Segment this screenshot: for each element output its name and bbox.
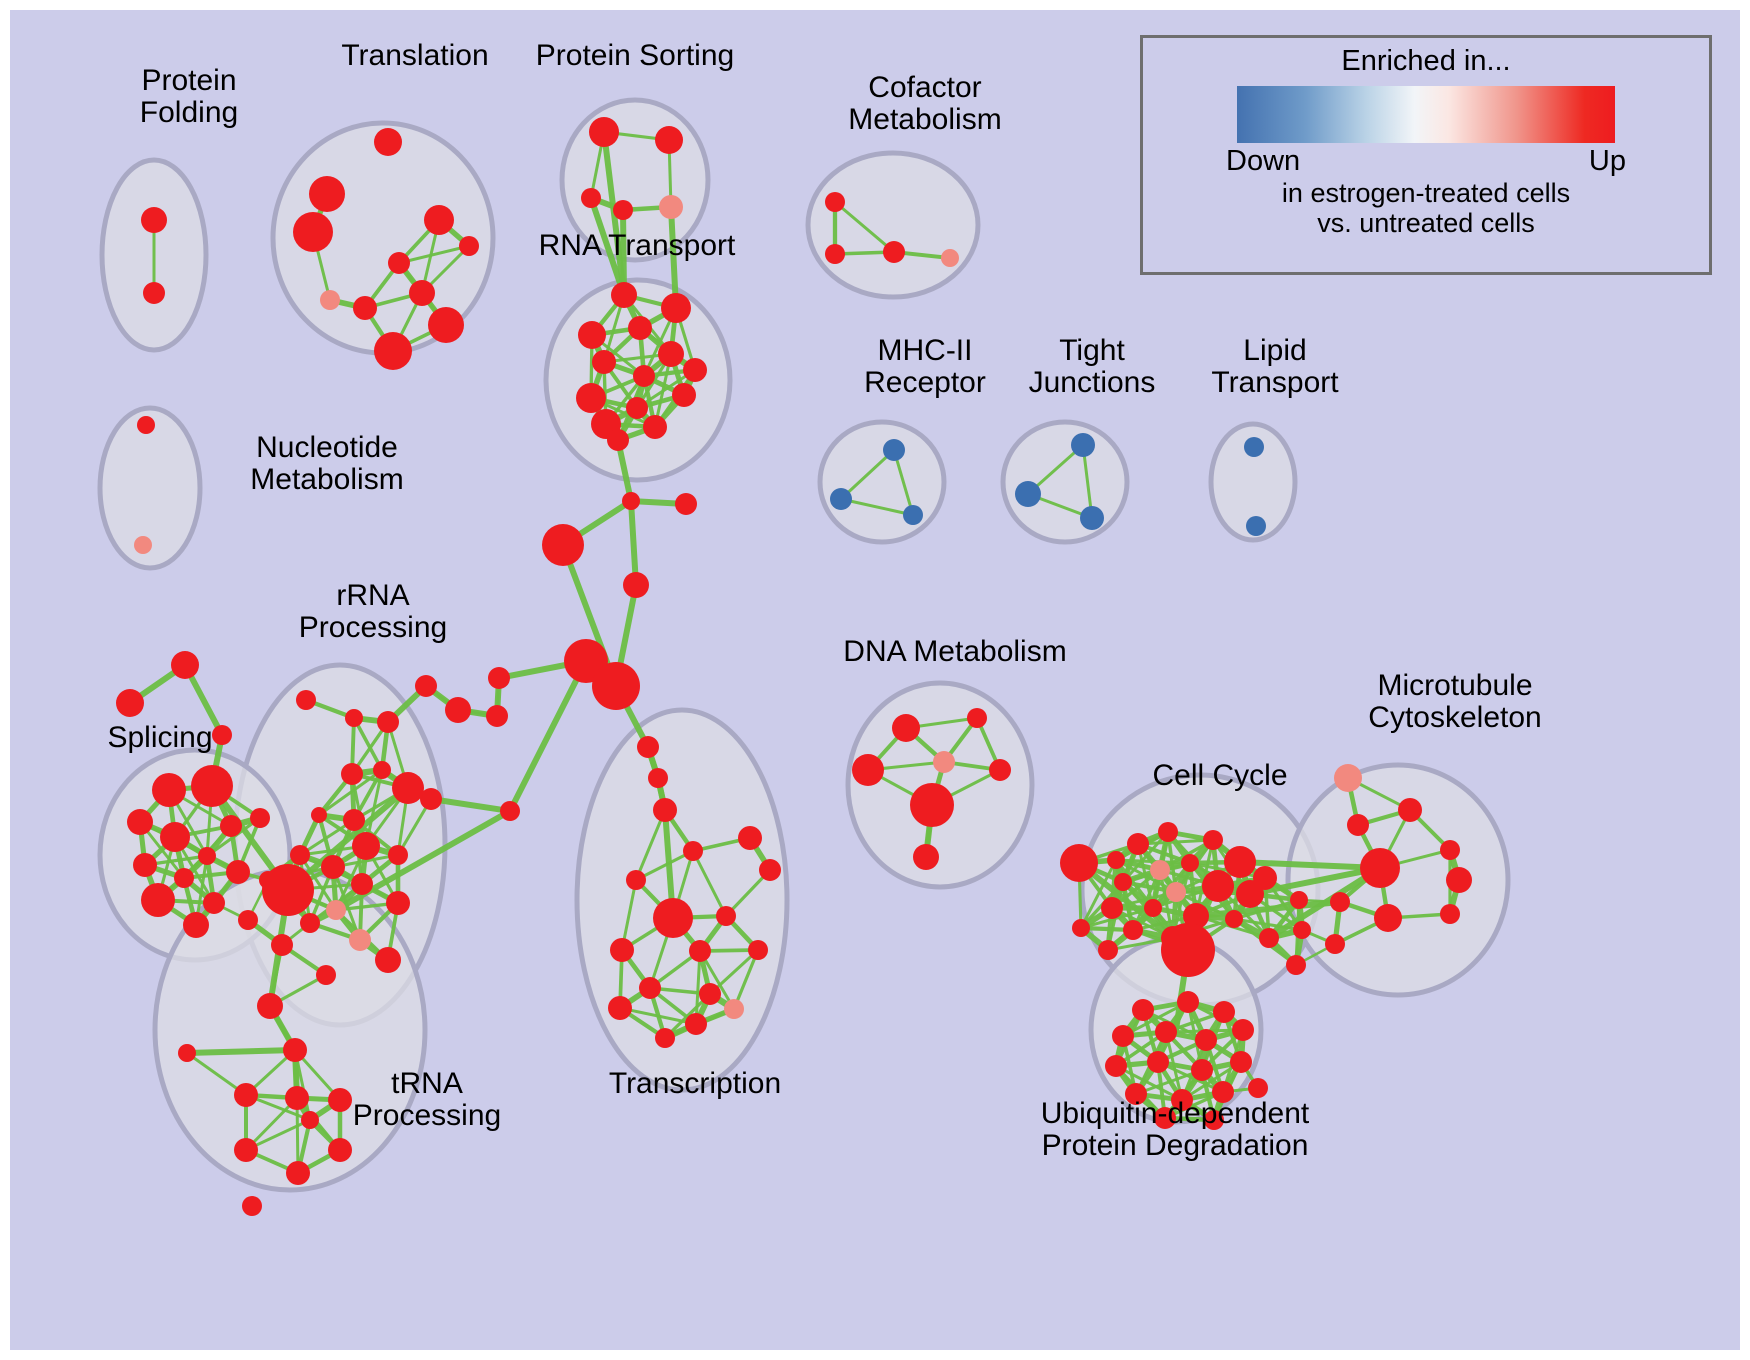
network-node[interactable]	[311, 807, 327, 823]
network-node[interactable]	[1155, 1021, 1177, 1043]
network-node[interactable]	[913, 844, 939, 870]
network-node[interactable]	[1232, 1019, 1254, 1041]
network-node[interactable]	[1248, 1078, 1268, 1098]
network-node[interactable]	[1144, 899, 1162, 917]
network-node[interactable]	[830, 488, 852, 510]
network-node[interactable]	[655, 126, 683, 154]
network-node[interactable]	[1181, 854, 1199, 872]
network-node[interactable]	[388, 252, 410, 274]
network-node[interactable]	[613, 200, 633, 220]
network-node[interactable]	[309, 176, 345, 212]
network-node[interactable]	[883, 241, 905, 263]
network-node[interactable]	[672, 383, 696, 407]
network-node[interactable]	[578, 321, 606, 349]
network-node[interactable]	[1191, 1059, 1213, 1081]
network-node[interactable]	[293, 212, 333, 252]
network-node[interactable]	[271, 934, 293, 956]
network-node[interactable]	[212, 725, 232, 745]
network-node[interactable]	[628, 316, 652, 340]
network-node[interactable]	[655, 1028, 675, 1048]
network-node[interactable]	[748, 940, 768, 960]
network-node[interactable]	[639, 977, 661, 999]
network-node[interactable]	[183, 912, 209, 938]
network-node[interactable]	[1098, 940, 1118, 960]
network-node[interactable]	[392, 772, 424, 804]
network-node[interactable]	[1286, 955, 1306, 975]
network-node[interactable]	[1290, 891, 1308, 909]
network-node[interactable]	[352, 832, 380, 860]
network-node[interactable]	[1212, 1081, 1234, 1103]
network-node[interactable]	[685, 1013, 707, 1035]
network-node[interactable]	[643, 415, 667, 439]
network-node[interactable]	[989, 759, 1011, 781]
network-node[interactable]	[933, 751, 955, 773]
network-node[interactable]	[1132, 999, 1154, 1021]
network-node[interactable]	[1225, 910, 1243, 928]
network-node[interactable]	[1440, 840, 1460, 860]
network-node[interactable]	[238, 910, 258, 930]
network-node[interactable]	[374, 332, 412, 370]
network-node[interactable]	[1072, 919, 1090, 937]
network-node[interactable]	[1259, 928, 1279, 948]
network-node[interactable]	[1127, 833, 1149, 855]
network-node[interactable]	[300, 913, 320, 933]
network-node[interactable]	[351, 873, 373, 895]
network-node[interactable]	[1202, 870, 1234, 902]
network-node[interactable]	[1161, 923, 1215, 977]
legend-colorbar	[1237, 86, 1615, 143]
network-node[interactable]	[234, 1138, 258, 1162]
legend-up-label: Up	[1589, 145, 1626, 178]
network-node[interactable]	[1101, 897, 1123, 919]
network-node[interactable]	[542, 524, 584, 566]
network-node[interactable]	[683, 358, 707, 382]
network-node[interactable]	[420, 788, 442, 810]
legend-box: Enriched in... Down Up in estrogen-treat…	[1140, 35, 1712, 275]
network-node[interactable]	[353, 296, 377, 320]
network-node[interactable]	[1347, 814, 1369, 836]
network-node[interactable]	[825, 244, 845, 264]
network-node[interactable]	[349, 929, 371, 951]
network-node[interactable]	[1325, 934, 1345, 954]
network-node[interactable]	[626, 397, 648, 419]
network-node[interactable]	[160, 822, 190, 852]
network-node[interactable]	[910, 783, 954, 827]
network-node[interactable]	[1195, 1029, 1217, 1051]
network-node[interactable]	[592, 662, 640, 710]
network-node[interactable]	[226, 860, 250, 884]
network-node[interactable]	[608, 996, 632, 1020]
network-node[interactable]	[1398, 798, 1422, 822]
network-node[interactable]	[375, 947, 401, 973]
network-node[interactable]	[301, 1111, 319, 1129]
network-node[interactable]	[1112, 1025, 1134, 1047]
network-node[interactable]	[283, 1038, 307, 1062]
network-node[interactable]	[171, 651, 199, 679]
network-node[interactable]	[373, 761, 391, 779]
network-node[interactable]	[1107, 851, 1125, 869]
network-node[interactable]	[699, 983, 721, 1005]
network-node[interactable]	[622, 492, 640, 510]
network-node[interactable]	[1147, 1051, 1169, 1073]
network-node[interactable]	[1246, 516, 1266, 536]
network-node[interactable]	[285, 1086, 309, 1110]
network-node[interactable]	[661, 293, 691, 323]
network-node[interactable]	[152, 773, 186, 807]
network-node[interactable]	[1158, 822, 1178, 842]
network-node[interactable]	[576, 383, 606, 413]
network-node[interactable]	[1230, 1051, 1252, 1073]
network-node[interactable]	[1374, 904, 1402, 932]
network-node[interactable]	[377, 711, 399, 733]
network-node[interactable]	[220, 815, 242, 837]
network-node[interactable]	[724, 999, 744, 1019]
network-node[interactable]	[316, 965, 336, 985]
network-node[interactable]	[409, 280, 435, 306]
network-node[interactable]	[133, 853, 157, 877]
network-node[interactable]	[689, 940, 711, 962]
cluster-ellipse	[562, 100, 708, 260]
network-node[interactable]	[415, 675, 437, 697]
network-node[interactable]	[658, 341, 684, 367]
network-node[interactable]	[626, 870, 646, 890]
network-node[interactable]	[459, 236, 479, 256]
network-canvas: Protein FoldingTranslationProtein Sortin…	[10, 10, 1740, 1350]
network-node[interactable]	[611, 282, 637, 308]
network-node[interactable]	[637, 736, 659, 758]
network-edge	[187, 1050, 295, 1053]
network-node[interactable]	[659, 195, 683, 219]
legend-subtitle-line1: in estrogen-treated cells	[1143, 178, 1709, 208]
network-node[interactable]	[607, 429, 629, 451]
network-node[interactable]	[500, 801, 520, 821]
network-node[interactable]	[1293, 921, 1311, 939]
network-node[interactable]	[1334, 764, 1362, 792]
network-node[interactable]	[1440, 904, 1460, 924]
network-node[interactable]	[1171, 1089, 1193, 1111]
network-node[interactable]	[203, 892, 225, 914]
network-node[interactable]	[1204, 1110, 1224, 1130]
network-node[interactable]	[345, 709, 363, 727]
network-node[interactable]	[486, 705, 508, 727]
network-node[interactable]	[1203, 830, 1223, 850]
network-node[interactable]	[191, 765, 233, 807]
network-node[interactable]	[1330, 892, 1350, 912]
network-node[interactable]	[1154, 1107, 1176, 1129]
network-node[interactable]	[320, 290, 340, 310]
network-node[interactable]	[445, 697, 471, 723]
network-node[interactable]	[610, 938, 634, 962]
network-node[interactable]	[683, 841, 703, 861]
network-node[interactable]	[648, 768, 668, 788]
network-node[interactable]	[825, 192, 845, 212]
network-node[interactable]	[141, 883, 175, 917]
network-node[interactable]	[633, 365, 655, 387]
network-node[interactable]	[1244, 437, 1264, 457]
network-node[interactable]	[488, 667, 510, 689]
network-node[interactable]	[967, 708, 987, 728]
network-node[interactable]	[374, 128, 402, 156]
cluster-ellipse	[1003, 422, 1127, 542]
network-node[interactable]	[178, 1044, 196, 1062]
network-node[interactable]	[589, 117, 619, 147]
network-node[interactable]	[141, 207, 167, 233]
legend-title: Enriched in...	[1143, 45, 1709, 78]
network-node[interactable]	[259, 871, 277, 889]
network-node[interactable]	[903, 505, 923, 525]
network-node[interactable]	[1105, 1055, 1127, 1077]
network-node[interactable]	[653, 798, 677, 822]
network-node[interactable]	[250, 808, 270, 828]
network-node[interactable]	[127, 809, 153, 835]
network-node[interactable]	[428, 307, 464, 343]
network-node[interactable]	[653, 898, 693, 938]
network-node[interactable]	[1177, 991, 1199, 1013]
network-node[interactable]	[341, 763, 363, 785]
network-node[interactable]	[623, 572, 649, 598]
network-node[interactable]	[343, 809, 365, 831]
network-node[interactable]	[290, 845, 310, 865]
network-edge	[510, 661, 586, 811]
network-node[interactable]	[1224, 846, 1256, 878]
network-node[interactable]	[328, 1138, 352, 1162]
network-node[interactable]	[592, 350, 616, 374]
network-node[interactable]	[326, 900, 346, 920]
network-node[interactable]	[852, 754, 884, 786]
network-node[interactable]	[883, 439, 905, 461]
network-node[interactable]	[716, 906, 736, 926]
network-node[interactable]	[941, 249, 959, 267]
network-node[interactable]	[1236, 880, 1264, 908]
network-node[interactable]	[134, 536, 152, 554]
network-node[interactable]	[892, 714, 920, 742]
network-node[interactable]	[424, 205, 454, 235]
network-node[interactable]	[1213, 1001, 1235, 1023]
network-node[interactable]	[386, 891, 410, 915]
network-node[interactable]	[759, 859, 781, 881]
network-node[interactable]	[1446, 867, 1472, 893]
network-node[interactable]	[143, 282, 165, 304]
network-node[interactable]	[1114, 873, 1132, 891]
network-node[interactable]	[1150, 860, 1170, 880]
network-node[interactable]	[257, 993, 283, 1019]
network-node[interactable]	[1125, 1083, 1147, 1105]
legend-down-label: Down	[1226, 145, 1300, 178]
network-node[interactable]	[1060, 844, 1098, 882]
network-node[interactable]	[321, 855, 345, 879]
network-node[interactable]	[581, 188, 601, 208]
network-node[interactable]	[1015, 481, 1041, 507]
network-node[interactable]	[174, 868, 194, 888]
network-node[interactable]	[328, 1088, 352, 1112]
network-node[interactable]	[286, 1161, 310, 1185]
network-node[interactable]	[116, 689, 144, 717]
network-node[interactable]	[1071, 433, 1095, 457]
legend-subtitle-line2: vs. untreated cells	[1143, 208, 1709, 238]
network-node[interactable]	[296, 690, 316, 710]
network-node[interactable]	[137, 416, 155, 434]
network-node[interactable]	[388, 845, 408, 865]
network-node[interactable]	[1123, 920, 1143, 940]
network-node[interactable]	[234, 1083, 258, 1107]
cluster-ellipse	[820, 422, 944, 542]
network-node[interactable]	[242, 1196, 262, 1216]
network-node[interactable]	[675, 493, 697, 515]
network-node[interactable]	[738, 826, 762, 850]
network-node[interactable]	[198, 847, 216, 865]
network-node[interactable]	[1360, 848, 1400, 888]
network-node[interactable]	[1166, 882, 1186, 902]
network-node[interactable]	[1080, 506, 1104, 530]
